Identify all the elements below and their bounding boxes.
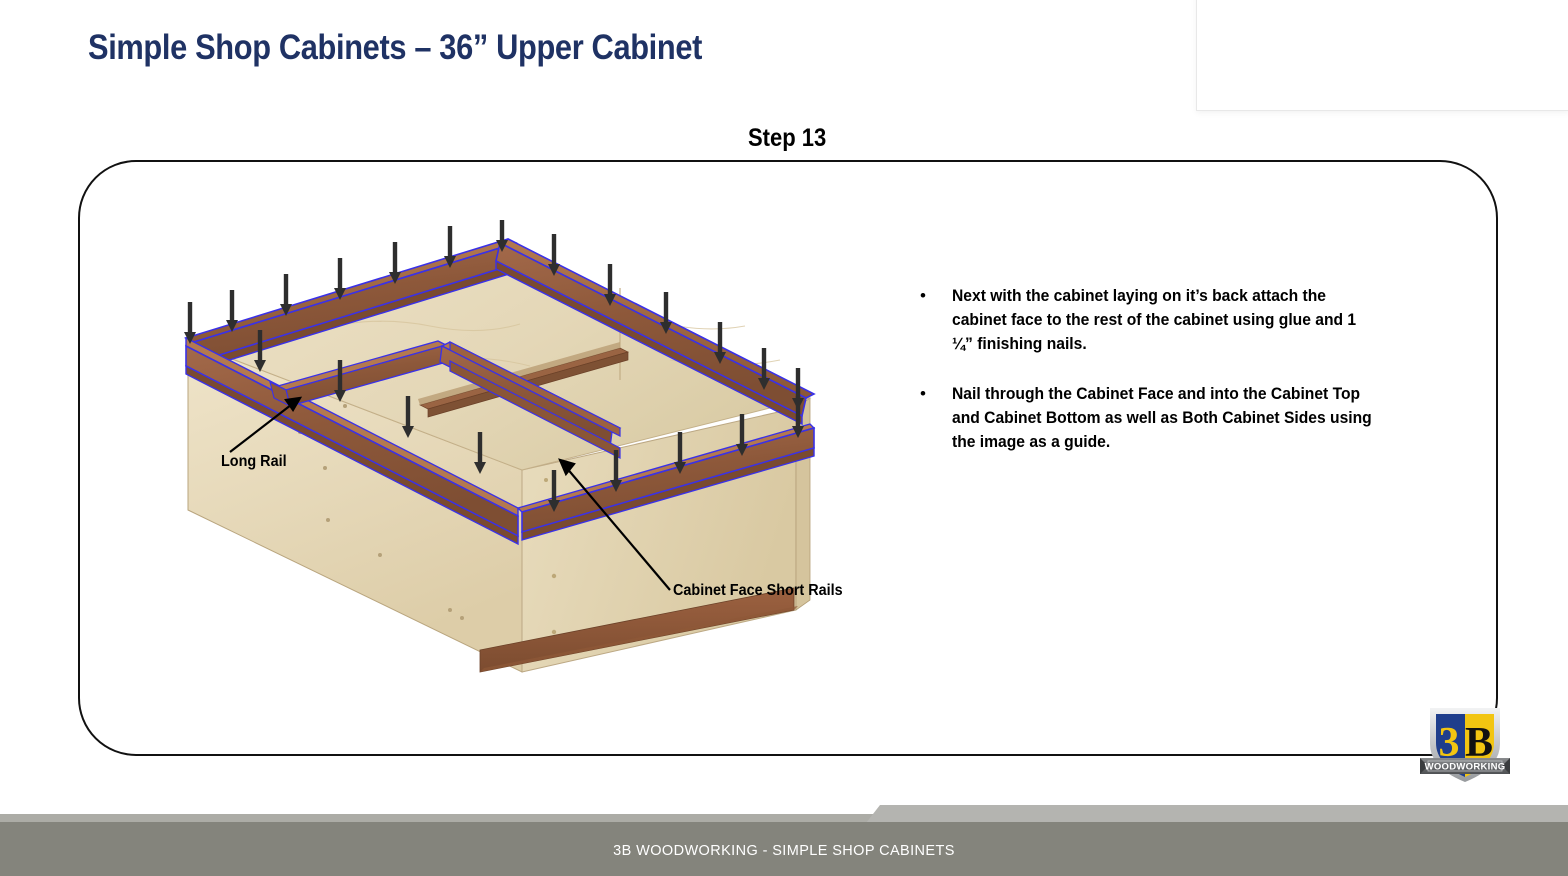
bullet-marker-icon: • — [912, 284, 952, 308]
bullet-text: Nail through the Cabinet Face and into t… — [952, 382, 1375, 454]
page-title: Simple Shop Cabinets – 36” Upper Cabinet — [88, 28, 702, 68]
bullet-item: • Nail through the Cabinet Face and into… — [912, 382, 1412, 454]
step-heading: Step 13 — [748, 124, 826, 153]
bullet-text: Next with the cabinet laying on it’s bac… — [952, 284, 1375, 356]
callout-label-cabinet-face-short-rails: Cabinet Face Short Rails — [673, 579, 853, 602]
instruction-bullet-list: • Next with the cabinet laying on it’s b… — [912, 284, 1412, 480]
callout-label-long-rail: Long Rail — [221, 450, 287, 473]
logo-ribbon-text: WOODWORKING — [1425, 762, 1506, 773]
bullet-marker-icon: • — [912, 382, 952, 406]
footer-text: 3B WOODWORKING - SIMPLE SHOP CABINETS — [0, 843, 1568, 859]
top-right-blank-panel — [1196, 0, 1568, 111]
footer-accent-bar-riser — [866, 805, 1568, 823]
brand-logo: 3 B WOODWORKING — [1416, 698, 1514, 788]
bullet-item: • Next with the cabinet laying on it’s b… — [912, 284, 1412, 356]
